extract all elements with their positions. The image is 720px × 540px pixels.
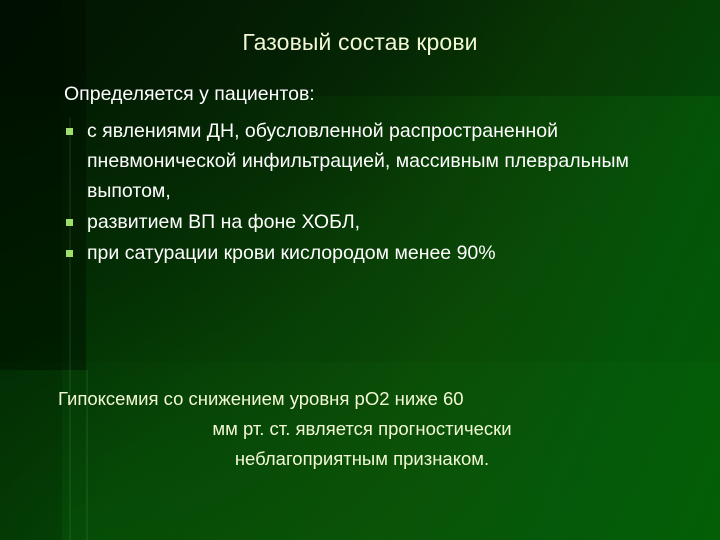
square-bullet-icon bbox=[66, 219, 73, 226]
presentation-slide: Газовый состав крови Определяется у паци… bbox=[0, 0, 720, 540]
list-item-label: развитием ВП на фоне ХОБЛ, bbox=[87, 207, 688, 237]
intro-text: Определяется у пациентов: bbox=[64, 81, 315, 108]
slide-content: Газовый состав крови Определяется у паци… bbox=[0, 0, 720, 540]
square-bullet-icon bbox=[66, 128, 73, 135]
closing-line-1: Гипоксемия со снижением уровня рО2 ниже … bbox=[58, 384, 666, 414]
list-item: при сатурации крови кислородом менее 90% bbox=[64, 238, 688, 268]
closing-line-3: неблагоприятным признаком. bbox=[235, 448, 489, 469]
list-item: с явлениями ДН, обусловленной распростра… bbox=[64, 116, 688, 206]
list-item-label: при сатурации крови кислородом менее 90% bbox=[87, 238, 688, 268]
closing-line-2: мм рт. ст. является прогностически bbox=[212, 418, 511, 439]
square-bullet-icon bbox=[66, 250, 73, 257]
slide-title: Газовый состав крови bbox=[0, 27, 720, 57]
bullet-list: с явлениями ДН, обусловленной распростра… bbox=[64, 116, 688, 268]
closing-paragraph: Гипоксемия со снижением уровня рО2 ниже … bbox=[58, 384, 666, 474]
list-item: развитием ВП на фоне ХОБЛ, bbox=[64, 207, 688, 237]
list-item-label: с явлениями ДН, обусловленной распростра… bbox=[87, 116, 688, 206]
